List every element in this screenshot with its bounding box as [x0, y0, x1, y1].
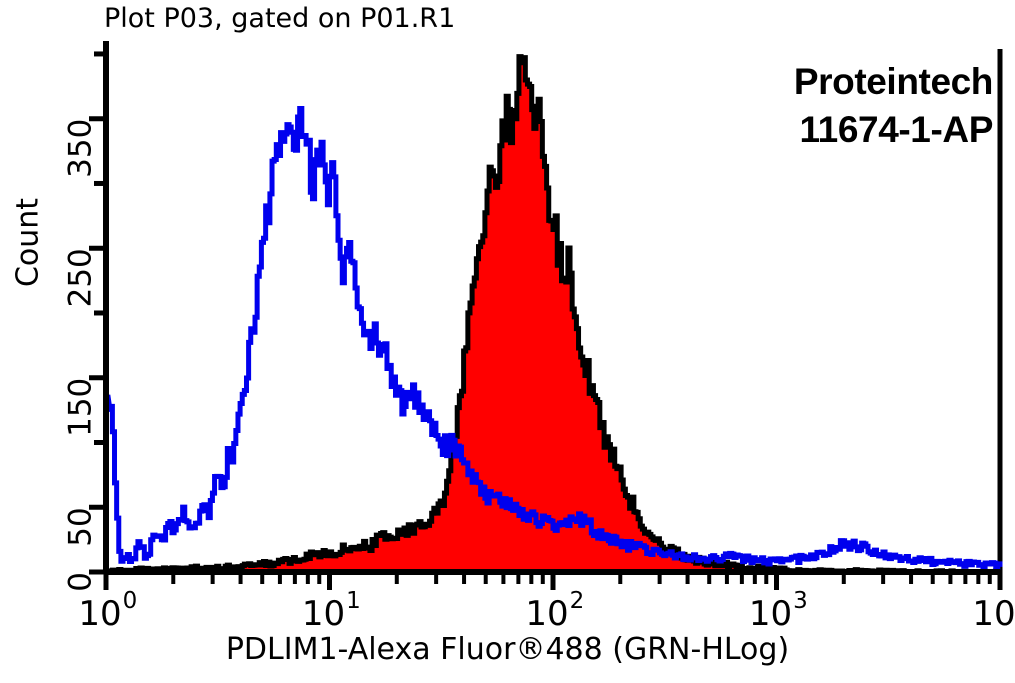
y-tick-label: 350 [63, 119, 99, 178]
y-tick-label: 50 [63, 507, 99, 546]
x-tick-label: 100 [78, 588, 137, 634]
svg-text:10: 10 [78, 594, 121, 634]
svg-text:3: 3 [793, 588, 808, 614]
series-group [106, 41, 1000, 572]
y-tick-label: 150 [63, 378, 99, 437]
flow-cytometry-figure: Plot P03, gated on P01.R1 Proteintech 11… [0, 0, 1015, 683]
x-tick-label: 103 [749, 588, 808, 634]
x-tick-label: 101 [302, 588, 361, 634]
svg-text:10: 10 [525, 594, 568, 634]
svg-text:2: 2 [570, 588, 585, 614]
svg-text:0: 0 [123, 588, 138, 614]
y-tick-label: 0 [63, 572, 99, 592]
y-tick-label: 250 [63, 248, 99, 307]
sample-histogram-fill [106, 57, 1000, 572]
histogram-chart: 050150250350100101102103104 [0, 0, 1015, 683]
x-tick-label: 102 [525, 588, 584, 634]
svg-text:10: 10 [972, 594, 1015, 634]
plot-area: 050150250350100101102103104 [0, 0, 1015, 683]
svg-text:1: 1 [346, 588, 361, 614]
x-tick-label: 104 [972, 588, 1015, 634]
svg-text:10: 10 [749, 594, 792, 634]
svg-text:10: 10 [302, 594, 345, 634]
